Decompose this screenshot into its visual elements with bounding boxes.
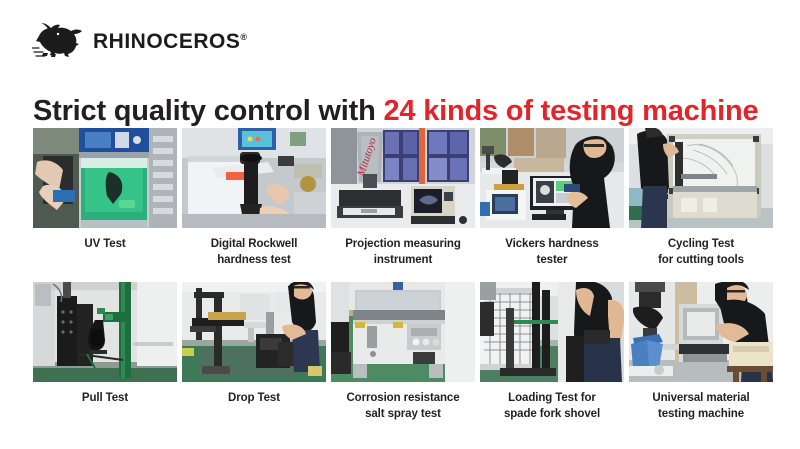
loading-test-rig-photo <box>480 282 624 382</box>
universal-testing-machine-photo <box>629 282 773 382</box>
gallery-item-salt-spray[interactable]: Corrosion resistance salt spray test <box>331 282 475 422</box>
salt-spray-chamber-photo <box>331 282 475 382</box>
gallery-item-vickers-hardness[interactable]: Vickers hardness tester <box>480 128 624 268</box>
drop-test-rig-photo <box>182 282 326 382</box>
gallery-item-caption: Corrosion resistance salt spray test <box>331 391 475 422</box>
gallery-item-uv-test[interactable]: UV Test <box>33 128 177 268</box>
gallery-item-caption: Digital Rockwell hardness test <box>182 237 326 268</box>
uv-test-chamber-photo <box>33 128 177 228</box>
registered-mark: ® <box>240 32 247 42</box>
photo-row: UV Test <box>33 128 773 268</box>
projection-measuring-instrument-photo: Mitutoyo <box>331 128 475 228</box>
slide-root: RHINOCEROS® Strict quality control with … <box>0 0 800 449</box>
gallery-item-caption: Projection measuring instrument <box>331 237 475 268</box>
gallery-item-projection-measuring[interactable]: Mitutoyo Projectio <box>331 128 475 268</box>
gallery-item-caption: Drop Test <box>182 391 326 407</box>
title-lead: Strict quality control with <box>33 95 383 127</box>
title-highlight: 24 kinds of testing machine <box>383 95 758 127</box>
pull-test-rig-photo <box>33 282 177 382</box>
gallery-item-loading-test[interactable]: Loading Test for spade fork shovel <box>480 282 624 422</box>
gallery-item-caption: Universal material testing machine <box>629 391 773 422</box>
page-title: Strict quality control with 24 kinds of … <box>33 95 758 128</box>
gallery-item-cycling-test[interactable]: Cycling Test for cutting tools <box>629 128 773 268</box>
photo-grid: UV Test <box>33 128 773 422</box>
gallery-item-rockwell-hardness[interactable]: Digital Rockwell hardness test <box>182 128 326 268</box>
gallery-item-caption: UV Test <box>33 237 177 253</box>
cycling-test-machine-photo <box>629 128 773 228</box>
brand-name: RHINOCEROS® <box>93 31 248 52</box>
photo-row: Pull Test <box>33 282 773 422</box>
gallery-item-caption: Cycling Test for cutting tools <box>629 237 773 268</box>
gallery-item-drop-test[interactable]: Drop Test <box>182 282 326 422</box>
brand-logo: RHINOCEROS® <box>32 20 242 62</box>
gallery-item-pull-test[interactable]: Pull Test <box>33 282 177 422</box>
gallery-item-universal-testing[interactable]: Universal material testing machine <box>629 282 773 422</box>
gallery-item-caption: Loading Test for spade fork shovel <box>480 391 624 422</box>
rockwell-hardness-tester-photo <box>182 128 326 228</box>
gallery-item-caption: Pull Test <box>33 391 177 407</box>
rhinoceros-logo-icon <box>32 22 92 60</box>
gallery-item-caption: Vickers hardness tester <box>480 237 624 268</box>
vickers-hardness-tester-photo <box>480 128 624 228</box>
